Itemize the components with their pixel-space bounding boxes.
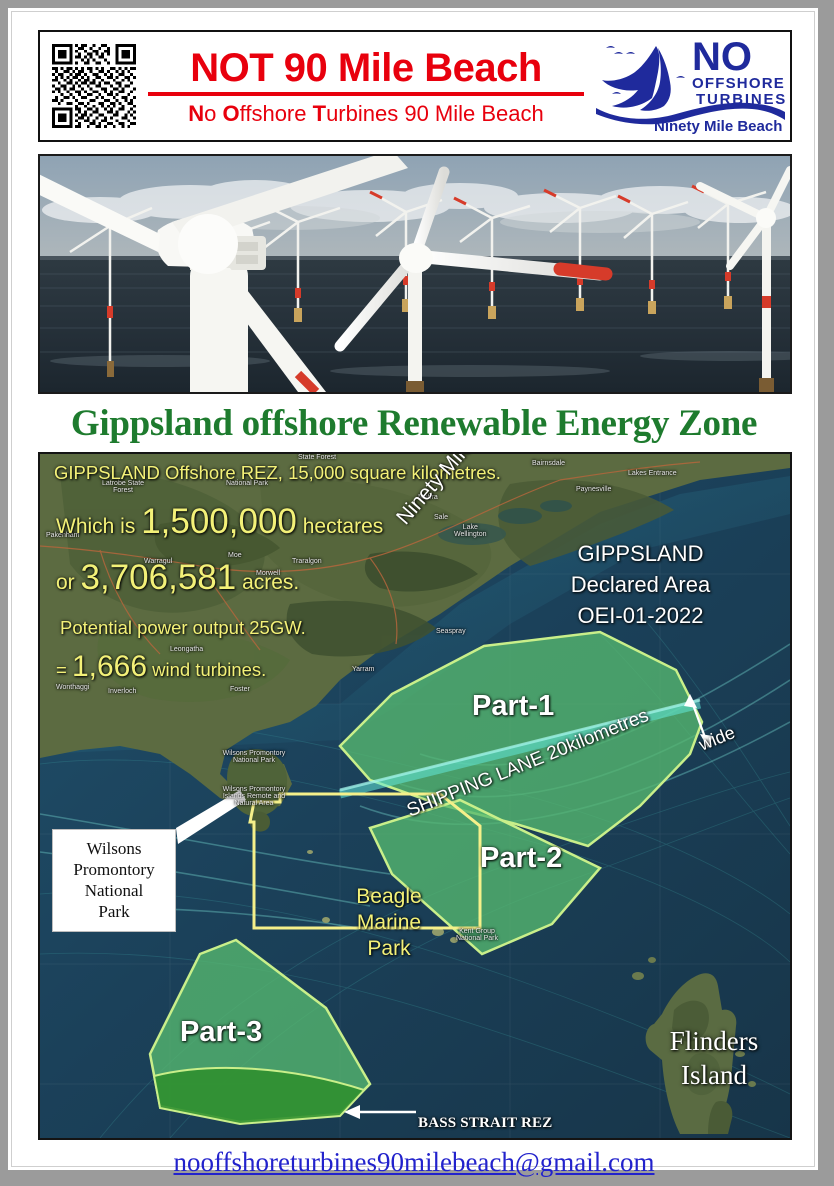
beagle-line3: Park [334,936,444,962]
beagle-line2: Marine [334,910,444,936]
stat-hectares-value: 1,500,000 [141,502,297,541]
map-place-label: Inverloch [108,688,136,695]
map-place-label: Paynesville [576,486,611,493]
label-part-3: Part-3 [180,1016,262,1049]
page-title: Gippsland offshore Renewable Energy Zone [12,404,816,444]
poster-page: NOT 90 Mile Beach No Offshore Turbines 9… [8,8,818,1170]
map-place-label: Foster [230,686,250,693]
banner-underline-rule [148,92,584,96]
svg-text:OFFSHORE: OFFSHORE [692,75,785,92]
svg-text:NO: NO [692,35,752,79]
label-bass-strait-rez: BASS STRAIT REZ [418,1115,552,1132]
map-place-label: State Forest [298,454,336,461]
wilsons-line2: Promontory [59,859,169,880]
map-place-label: Wonthaggi [56,684,89,691]
qr-code-container [40,32,142,140]
stat-turbines-value: 1,666 [72,650,147,683]
stat-turbines-prefix: = [56,659,72,680]
stat-acres-prefix: or [56,571,81,594]
svg-text:Ninety Mile Beach: Ninety Mile Beach [654,118,782,135]
banner-title: NOT 90 Mile Beach [190,47,542,89]
stat-power-output: Potential power output 25GW. [60,617,306,639]
wilsons-line3: National [59,880,169,901]
flinders-line1: Flinders [644,1024,784,1058]
no-offshore-turbines-logo: NO OFFSHORE TURBINES Ninety Mile Beach [590,32,790,140]
stat-acres-suffix: acres. [236,571,299,594]
stat-hectares-prefix: Which is [56,515,141,538]
qr-code-icon[interactable] [52,44,136,128]
declared-area-line1: GIPPSLAND [548,538,733,569]
map-place-label: Wilsons PromontoryNational Park [216,750,292,764]
svg-text:TURBINES: TURBINES [696,91,787,108]
map-place-label: Wilsons Promontory Islands Remote and Na… [218,786,290,807]
map-place-label: Bairnsdale [532,460,565,467]
label-shipping-lane-wide: wide [696,722,738,755]
wilsons-line1: Wilsons [59,838,169,859]
map-place-label: Lakes Entrance [628,470,677,477]
map-text-overlay: Latrobe StateForest State Forest Nationa… [40,454,790,1138]
map-place-label: Sale [434,514,448,521]
stat-acres: or 3,706,581 acres. [56,558,299,598]
stat-hectares: Which is 1,500,000 hectares [56,502,383,542]
banner-subtitle: No Offshore Turbines 90 Mile Beach [188,102,544,126]
beagle-line1: Beagle [334,884,444,910]
declared-area-line3: OEI-01-2022 [548,600,733,631]
label-declared-area: GIPPSLAND Declared Area OEI-01-2022 [548,538,733,631]
label-flinders-island: Flinders Island [644,1024,784,1092]
whale-tail-icon: NO OFFSHORE TURBINES Ninety Mile Beach [592,34,788,138]
map-place-label: Seaspray [436,628,466,635]
poster-inner-frame: NOT 90 Mile Beach No Offshore Turbines 9… [11,11,815,1167]
label-part-2: Part-2 [480,842,562,875]
gippsland-rez-map[interactable]: Latrobe StateForest State Forest Nationa… [38,452,792,1140]
stat-turbine-count: = 1,666 wind turbines. [56,650,266,684]
contact-email-link[interactable]: nooffshoreturbines90milebeach@gmail.com [12,1147,816,1178]
label-beagle-marine-park: Beagle Marine Park [334,884,444,962]
offshore-wind-farm-photo [38,154,792,394]
stat-hectares-suffix: hectares [297,515,383,538]
callout-wilsons-promontory-national-park: Wilsons Promontory National Park [52,829,176,932]
wilsons-line4: Park [59,901,169,922]
stat-turbines-suffix: wind turbines. [147,659,266,680]
declared-area-line2: Declared Area [548,569,733,600]
map-place-label: Kent GroupNational Park [444,928,510,942]
map-place-label: Yarram [352,666,374,673]
flinders-line2: Island [644,1058,784,1092]
label-part-1: Part-1 [472,690,554,723]
stat-acres-value: 3,706,581 [81,558,237,597]
banner-text-block: NOT 90 Mile Beach No Offshore Turbines 9… [142,32,590,140]
header-banner: NOT 90 Mile Beach No Offshore Turbines 9… [38,30,792,142]
map-place-label: LakeWellington [454,524,487,538]
